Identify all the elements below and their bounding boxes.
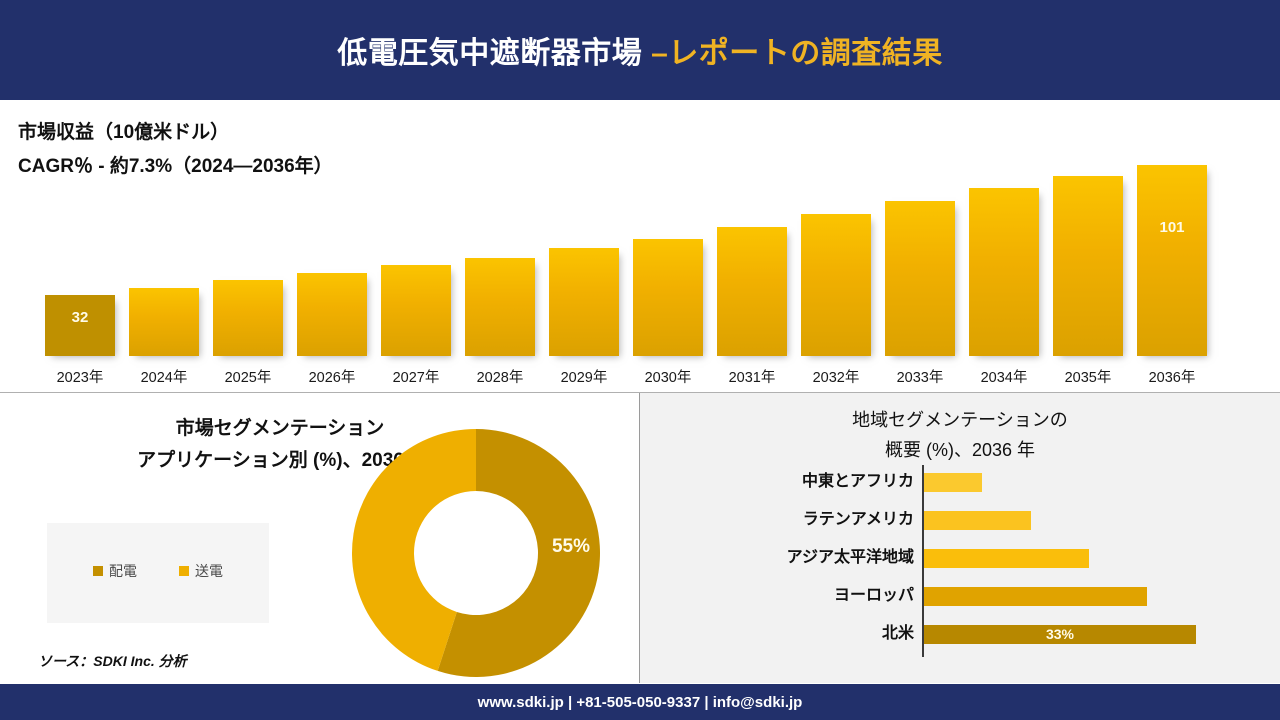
page-title-main: 低電圧気中遮断器市場 (337, 37, 651, 70)
region-bar (924, 587, 1147, 606)
region-row: ヨーロッパ (640, 577, 1280, 615)
bar-category-label: 2035年 (1047, 366, 1129, 387)
donut-legend-items: 配電送電 (47, 561, 269, 581)
bar-value-label: 101 (1137, 219, 1207, 236)
bar-category-label: 2030年 (627, 366, 709, 387)
revenue-bar (969, 188, 1039, 356)
header-banner: 低電圧気中遮断器市場 –レポートの調査結果 (0, 0, 1280, 100)
region-bar (924, 473, 982, 492)
legend-label: 送電 (195, 561, 223, 581)
bar-column: 2025年 (213, 280, 283, 356)
revenue-bars: 322023年2024年2025年2026年2027年2028年2029年203… (45, 104, 1235, 392)
page-title: 低電圧気中遮断器市場 –レポートの調査結果 (337, 28, 943, 72)
application-segmentation-panel: 市場セグメンテーション アプリケーション別 (%)、2036年 配電送電 ソース… (0, 393, 640, 683)
bar-column: 2035年 (1053, 176, 1123, 356)
revenue-bar (717, 227, 787, 356)
revenue-bar (381, 265, 451, 356)
revenue-bar (801, 214, 871, 356)
page-title-accent: –レポートの調査結果 (651, 37, 943, 70)
region-bar-value-label: 33% (924, 625, 1196, 644)
bar-category-label: 2036年 (1131, 366, 1213, 387)
region-row: 北米33% (640, 615, 1280, 653)
bar-category-label: 2026年 (291, 366, 373, 387)
bar-column: 2027年 (381, 265, 451, 356)
bar-category-label: 2032年 (795, 366, 877, 387)
regional-title: 地域セグメンテーションの 概要 (%)、2036 年 (640, 405, 1280, 465)
legend-swatch-icon (93, 566, 103, 576)
bar-category-label: 2027年 (375, 366, 457, 387)
legend-swatch-icon (179, 566, 189, 576)
revenue-bar: 101 (1137, 165, 1207, 356)
revenue-bar: 32 (45, 295, 115, 356)
donut-value-label: 55% (552, 536, 590, 558)
region-row: ラテンアメリカ (640, 501, 1280, 539)
revenue-bar (885, 201, 955, 356)
revenue-chart-panel: 市場収益（10億米ドル） CAGR％ - 約7.3%（2024―2036年） 3… (0, 104, 1280, 393)
revenue-bar (129, 288, 199, 356)
bar-column: 2024年 (129, 288, 199, 356)
bar-column: 2031年 (717, 227, 787, 356)
donut-legend: 配電送電 (47, 523, 269, 623)
region-bar (924, 549, 1089, 568)
bar-category-label: 2024年 (123, 366, 205, 387)
region-bar (924, 511, 1031, 530)
bar-value-label: 32 (45, 309, 115, 326)
legend-item: 配電 (93, 561, 137, 581)
region-label: ラテンアメリカ (700, 501, 914, 539)
bar-column: 322023年 (45, 295, 115, 356)
footer-contact: www.sdki.jp | +81-505-050-9337 | info@sd… (478, 694, 803, 711)
bar-column: 2033年 (885, 201, 955, 356)
region-bar: 33% (924, 625, 1196, 644)
revenue-bar (297, 273, 367, 356)
bar-category-label: 2025年 (207, 366, 289, 387)
region-label: 北米 (700, 615, 914, 653)
revenue-bar (549, 248, 619, 356)
donut-chart: 55% (338, 428, 614, 678)
bar-column: 2032年 (801, 214, 871, 356)
bar-category-label: 2023年 (39, 366, 121, 387)
infographic-page: 低電圧気中遮断器市場 –レポートの調査結果 市場収益（10億米ドル） CAGR％… (0, 0, 1280, 720)
bar-column: 2030年 (633, 239, 703, 356)
revenue-bar (465, 258, 535, 356)
source-note: ソース：SDKI Inc. 分析 (38, 651, 187, 671)
legend-item: 送電 (179, 561, 223, 581)
bar-column: 2034年 (969, 188, 1039, 356)
regional-segmentation-panel: 地域セグメンテーションの 概要 (%)、2036 年 中東とアフリカラテンアメリ… (640, 393, 1280, 683)
bar-column: 1012036年 (1137, 165, 1207, 356)
bar-category-label: 2034年 (963, 366, 1045, 387)
revenue-bar (633, 239, 703, 356)
bar-category-label: 2031年 (711, 366, 793, 387)
bar-column: 2026年 (297, 273, 367, 356)
bar-category-label: 2029年 (543, 366, 625, 387)
regional-title-line2: 概要 (%)、2036 年 (640, 435, 1280, 465)
regional-bars: 中東とアフリカラテンアメリカアジア太平洋地域ヨーロッパ北米33% (640, 463, 1280, 663)
region-row: 中東とアフリカ (640, 463, 1280, 501)
bar-column: 2029年 (549, 248, 619, 356)
regional-title-line1: 地域セグメンテーションの (852, 410, 1068, 430)
footer-banner: www.sdki.jp | +81-505-050-9337 | info@sd… (0, 684, 1280, 720)
bar-category-label: 2033年 (879, 366, 961, 387)
legend-label: 配電 (109, 561, 137, 581)
region-label: ヨーロッパ (700, 577, 914, 615)
revenue-bar (1053, 176, 1123, 356)
region-label: 中東とアフリカ (700, 463, 914, 501)
revenue-bar (213, 280, 283, 356)
bar-category-label: 2028年 (459, 366, 541, 387)
region-row: アジア太平洋地域 (640, 539, 1280, 577)
region-label: アジア太平洋地域 (700, 539, 914, 577)
bar-column: 2028年 (465, 258, 535, 356)
